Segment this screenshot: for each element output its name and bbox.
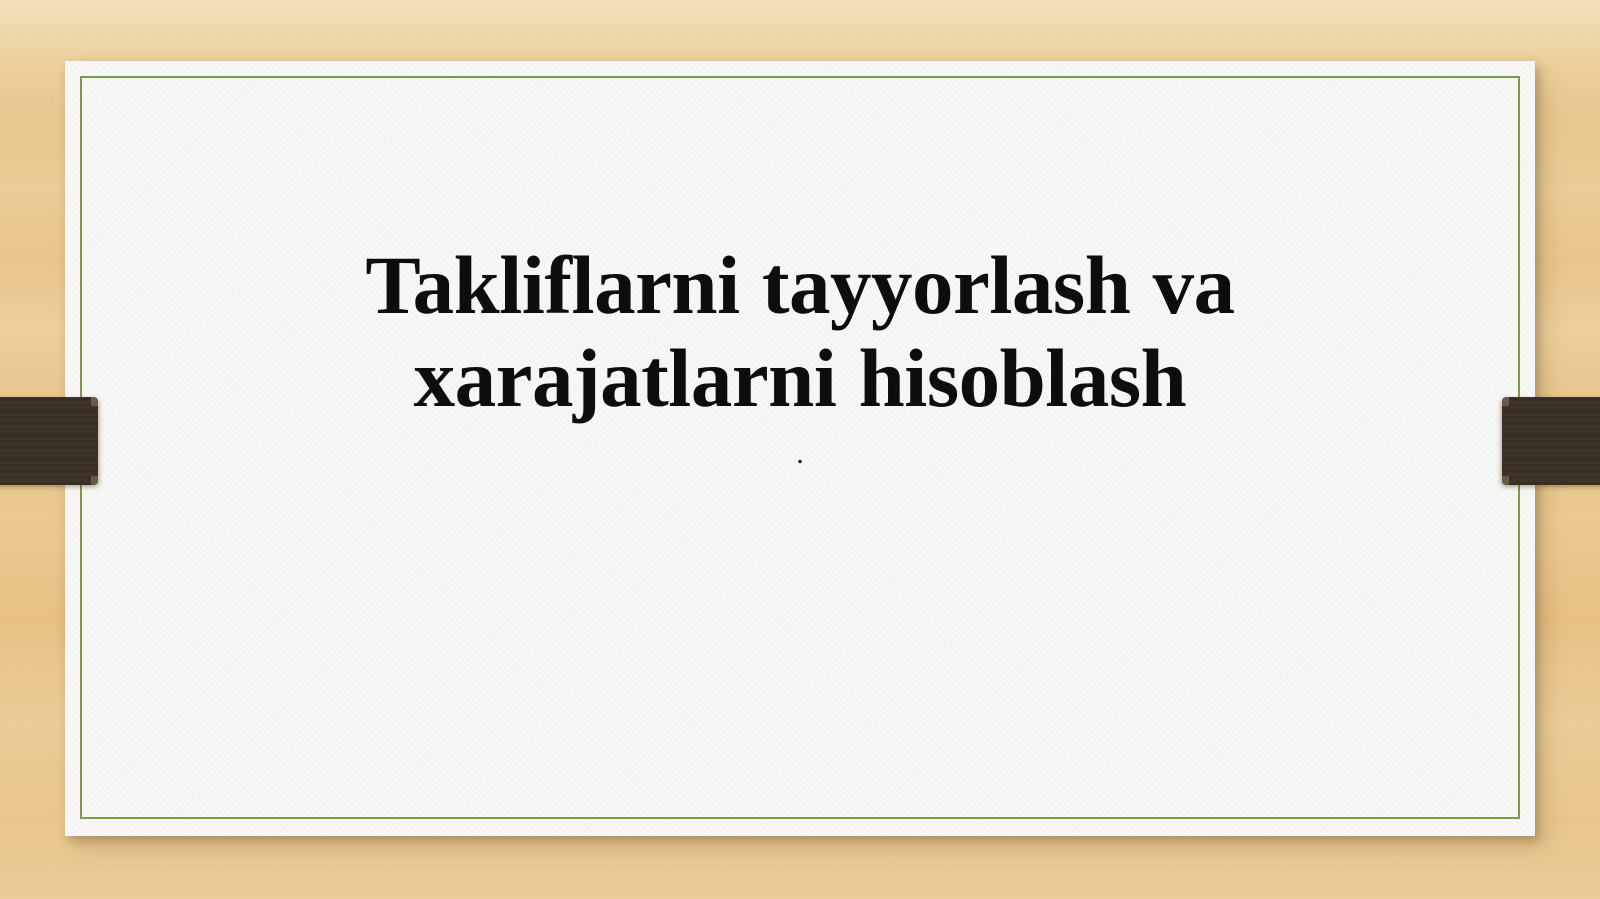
slide-title: Takliflarni tayyorlash va xarajatlarni h…: [175, 239, 1425, 425]
left-ribbon-tip-bottom: [91, 476, 98, 485]
slide-card: Takliflarni tayyorlash va xarajatlarni h…: [65, 61, 1535, 836]
title-block: Takliflarni tayyorlash va xarajatlarni h…: [175, 239, 1425, 469]
slide-subtitle: .: [175, 439, 1425, 469]
right-ribbon: [1502, 397, 1600, 485]
presentation-stage: Takliflarni tayyorlash va xarajatlarni h…: [0, 0, 1600, 899]
right-ribbon-tip-top: [1502, 397, 1509, 406]
left-ribbon-tip-top: [91, 397, 98, 406]
left-ribbon: [0, 397, 98, 485]
right-ribbon-tip-bottom: [1502, 476, 1509, 485]
